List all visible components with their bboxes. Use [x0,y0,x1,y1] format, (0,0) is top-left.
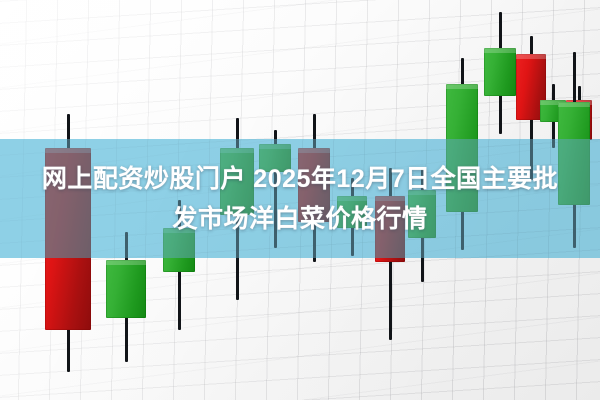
candlestick-banner: 网上配资炒股门户 2025年12月7日全国主要批 发市场洋白菜价格行情 [0,0,600,400]
candle-body-highlight [446,84,478,89]
headline-line-2: 发市场洋白菜价格行情 [172,201,427,237]
candle-body-highlight [558,102,590,107]
banner-title: 网上配资炒股门户 2025年12月7日全国主要批 发市场洋白菜价格行情 [0,139,600,258]
candle-body-highlight [106,260,146,265]
candle-body-highlight [484,48,516,53]
candle-body-up [484,48,516,96]
candle-body-up [106,260,146,318]
headline-line-1: 网上配资炒股门户 2025年12月7日全国主要批 [42,161,558,197]
